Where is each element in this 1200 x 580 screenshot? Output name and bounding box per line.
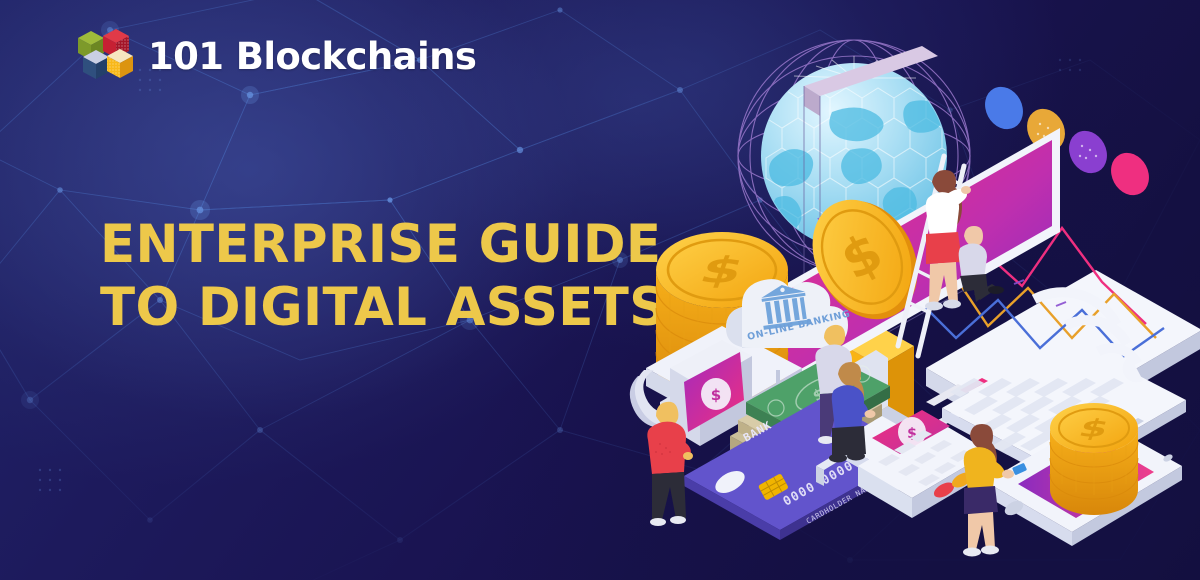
headline-line-2: TO DIGITAL ASSETS [100, 277, 643, 340]
legend-dot-pink [1104, 146, 1156, 202]
headline: ENTERPRISE GUIDE TO DIGITAL ASSETS [100, 214, 660, 339]
blockchain-cubes-icon [76, 24, 134, 88]
watch-coin-icon: $ [701, 378, 731, 410]
coin-stack-phone: $ [1050, 403, 1138, 515]
brand-name: 101 Blockchains [148, 38, 476, 75]
legend-dot-blue [978, 80, 1030, 136]
svg-text:$: $ [711, 386, 721, 404]
digital-assets-illustration: $ [626, 38, 1200, 568]
legend-dot-purple [1062, 124, 1114, 180]
promo-banner: 101 Blockchains ENTERPRISE GUIDE TO DIGI… [0, 0, 1200, 580]
brand-logo[interactable]: 101 Blockchains [76, 24, 476, 88]
headline-line-1: ENTERPRISE GUIDE [100, 214, 643, 277]
